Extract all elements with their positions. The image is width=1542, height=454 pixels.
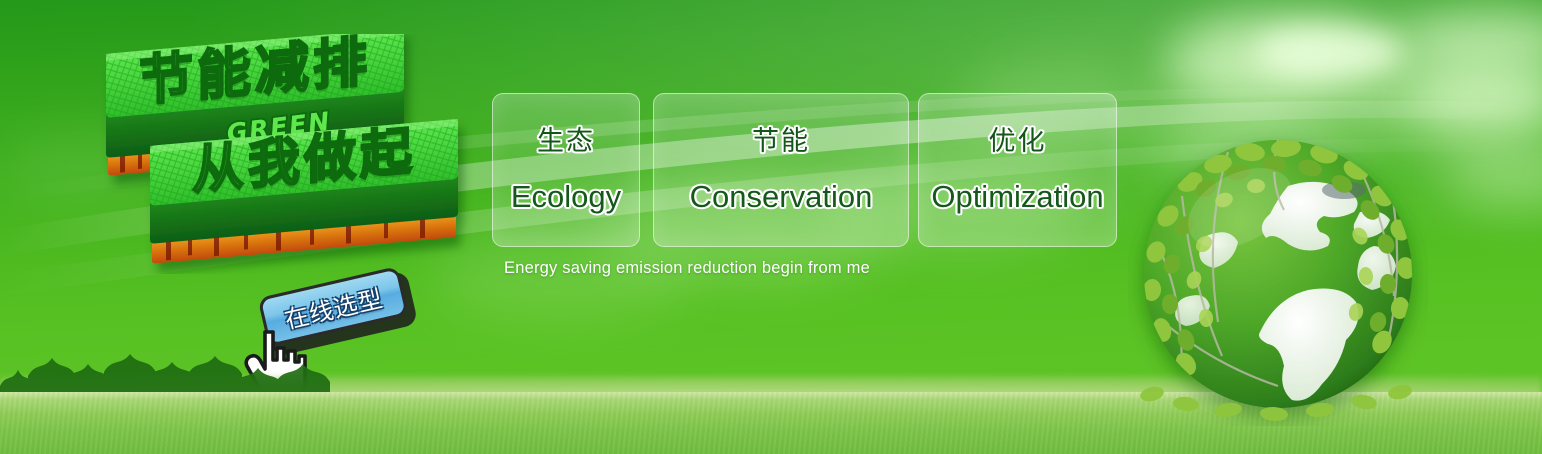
headline-3d: 节能减排 节能减排 GREEN GREEN bbox=[96, 34, 496, 274]
cloud-icon bbox=[1410, 68, 1542, 126]
cloud-icon bbox=[1255, 26, 1405, 80]
feature-card-en-label: Ecology bbox=[511, 181, 621, 212]
feature-card-cn-label: 优化 bbox=[989, 128, 1047, 155]
cloud-icon bbox=[1400, 10, 1542, 72]
feature-card-en-label: Optimization bbox=[931, 181, 1103, 212]
feature-card-cn-label: 节能 bbox=[752, 128, 810, 155]
feature-card-en-label: Conservation bbox=[690, 181, 873, 212]
feature-card-optimization[interactable]: 优化 Optimization bbox=[918, 93, 1117, 247]
feature-card-cn-label: 生态 bbox=[537, 128, 595, 155]
tagline-text: Energy saving emission reduction begin f… bbox=[504, 259, 870, 278]
feature-card-ecology[interactable]: 生态 Ecology bbox=[492, 93, 640, 247]
leafy-green-globe-icon bbox=[1128, 126, 1428, 426]
cloud-icon bbox=[1440, 140, 1542, 206]
cloud-icon bbox=[1160, 30, 1350, 100]
feature-card-conservation[interactable]: 节能 Conservation bbox=[653, 93, 909, 247]
eco-banner: 节能减排 节能减排 GREEN GREEN bbox=[0, 0, 1542, 454]
cloud-icon bbox=[1190, 8, 1420, 92]
